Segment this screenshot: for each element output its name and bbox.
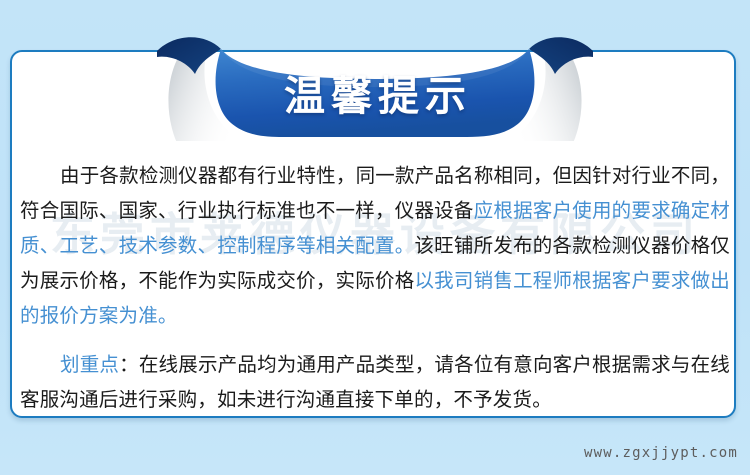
title-ribbon-banner: 温馨提示	[153, 31, 597, 141]
banner-title-text: 温馨提示	[153, 31, 597, 141]
notice-body: 由于各款检测仪器都有行业特性，同一款产品名称相同，但因针对行业不同，符合国际、国…	[20, 158, 730, 417]
paragraph-1: 由于各款检测仪器都有行业特性，同一款产品名称相同，但因针对行业不同，符合国际、国…	[20, 158, 730, 333]
p2-colon: ：	[119, 353, 139, 376]
footer-website-url: www.zgxjjypt.com	[584, 445, 738, 461]
p2-key-label: 划重点	[60, 353, 119, 376]
paragraph-2: 划重点：在线展示产品均为通用产品类型，请各位有意向客户根据需求与在线客服沟通后进…	[20, 347, 730, 417]
page-root: 东莞市莱德仪器设备有限公司	[0, 0, 750, 475]
